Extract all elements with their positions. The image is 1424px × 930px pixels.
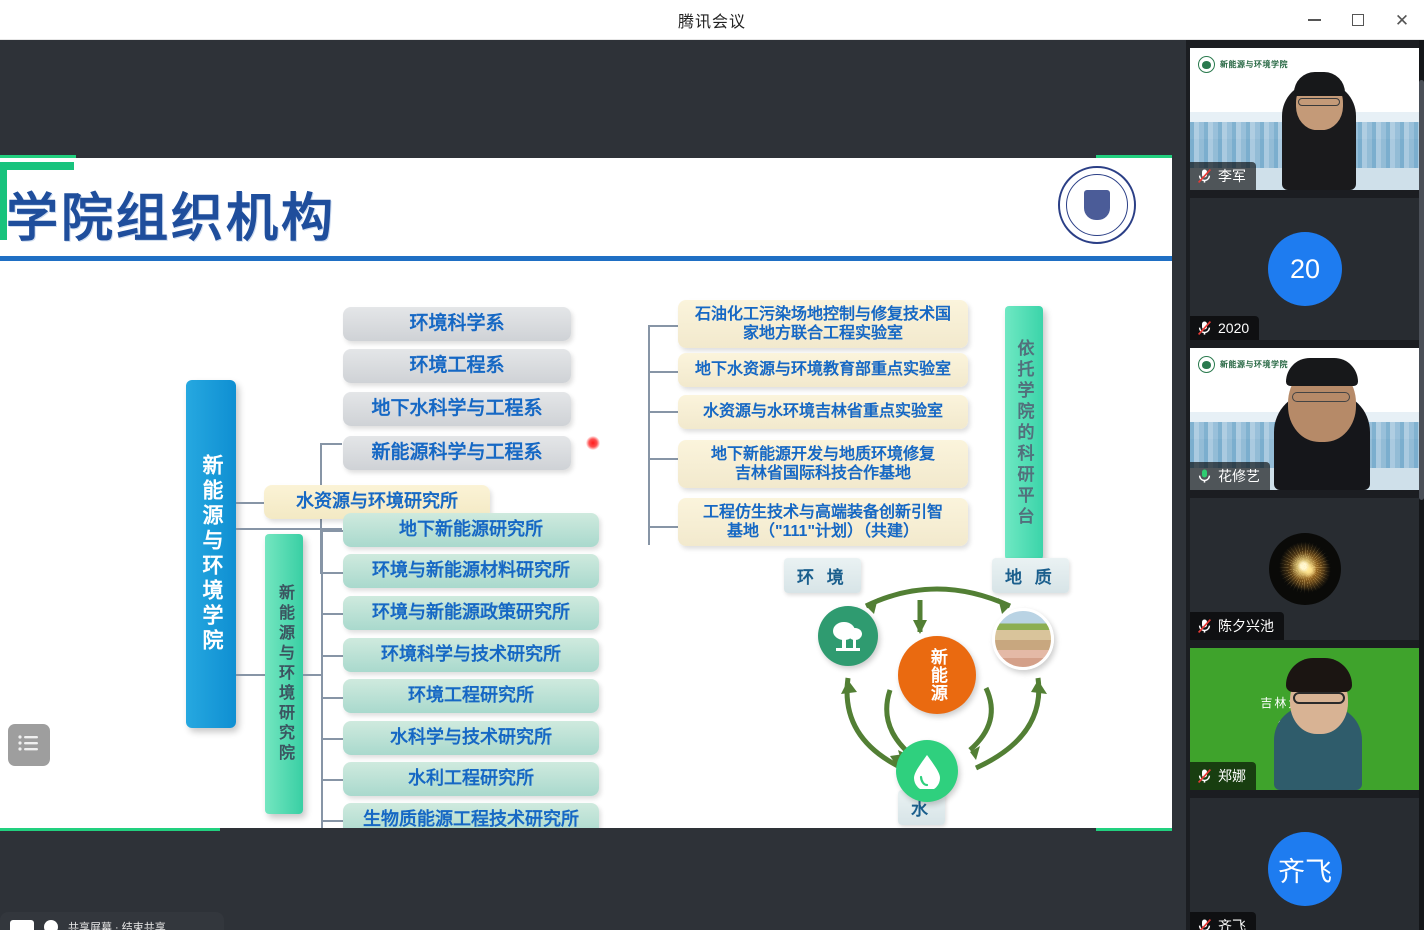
participant-name: 郑娜 (1218, 766, 1246, 786)
energy-ecosystem-diagram: 环 境 地 质 水 (770, 558, 1110, 828)
firework-avatar-image (1270, 534, 1340, 604)
close-button[interactable]: ✕ (1380, 0, 1424, 40)
platform-line: 地下新能源开发与地质环境修复 (711, 445, 935, 464)
mic-muted-icon (1197, 320, 1212, 336)
platform-line: 工程仿生技术与高端装备创新引智 (703, 503, 943, 522)
toolbar-label: 共享屏幕 · 结束共享 (68, 919, 166, 930)
college-logo-icon: 新能源与环境学院 (1198, 56, 1288, 73)
participant-name: 李军 (1218, 166, 1246, 186)
department-card: 新能源科学与工程系 (343, 436, 571, 470)
research-academy-node: 新能源与环境研究院 (265, 534, 303, 814)
participant-nameplate: 陈夕兴池 (1190, 612, 1284, 640)
platform-card: 石油化工污染场地控制与修复技术国 家地方联合工程实验室 (678, 300, 968, 348)
title-bar: 腾讯会议 ✕ (0, 0, 1424, 40)
platform-card: 地下水资源与环境教育部重点实验室 (678, 353, 968, 387)
window-controls: ✕ (1292, 0, 1424, 40)
meeting-toolbar[interactable]: 共享屏幕 · 结束共享 (0, 912, 224, 930)
mic-muted-icon (1197, 168, 1212, 184)
scrollbar-thumb[interactable] (1419, 80, 1424, 500)
app-title: 腾讯会议 (678, 8, 746, 32)
participant-name: 花修艺 (1218, 466, 1260, 486)
institute-card: 环境工程研究所 (343, 679, 599, 713)
slide-title: 学院组织机构 (6, 176, 336, 251)
participant-name: 2020 (1218, 320, 1249, 336)
participant-rail[interactable]: 新能源与环境学院 李军 20 (1186, 40, 1424, 930)
slide-header: 学院组织机构 (0, 158, 1172, 268)
tencent-meeting-window: 腾讯会议 ✕ 学院组织机构 (0, 0, 1424, 930)
participant-tile[interactable]: 陈夕兴池 (1190, 498, 1420, 640)
institute-card: 水利工程研究所 (343, 762, 599, 796)
participant-name: 齐飞 (1218, 916, 1246, 930)
avatar: 20 (1268, 232, 1342, 306)
eco-center-new-energy: 新能源 (898, 636, 976, 714)
platform-card: 地下新能源开发与地质环境修复 吉林省国际科技合作基地 (678, 440, 968, 488)
avatar: 齐飞 (1268, 832, 1342, 906)
mic-muted-icon (1197, 918, 1212, 930)
participant-tile[interactable]: 新能源与环境学院 李军 (1190, 48, 1420, 190)
avatar (1269, 533, 1341, 605)
platform-card: 水资源与水环境吉林省重点实验室 (678, 395, 968, 429)
title-divider (0, 256, 1172, 261)
org-root-node: 新能源与环境学院 (186, 380, 236, 728)
platform-line: 吉林省国际科技合作基地 (735, 464, 911, 483)
geology-icon (992, 608, 1054, 670)
participant-nameplate: 2020 (1190, 316, 1259, 340)
meeting-body: 学院组织机构 新能源与环境学院 环境科学系 环境工程系 地 (0, 40, 1424, 930)
audio-icon[interactable] (44, 920, 58, 930)
annotation-list-button[interactable] (8, 724, 50, 766)
mic-muted-icon (1197, 768, 1212, 784)
list-icon (18, 734, 40, 757)
institute-card: 环境与新能源政策研究所 (343, 596, 599, 630)
mic-muted-icon (1197, 618, 1212, 634)
institute-card: 地下新能源研究所 (343, 513, 599, 547)
presentation-slide: 学院组织机构 新能源与环境学院 环境科学系 环境工程系 地 (0, 158, 1172, 828)
department-card: 环境工程系 (343, 349, 571, 383)
camera-icon[interactable] (10, 920, 34, 930)
participant-nameplate: 花修艺 (1190, 462, 1270, 490)
institute-card: 环境科学与技术研究所 (343, 638, 599, 672)
maximize-button[interactable] (1336, 0, 1380, 40)
title-accent-bar (0, 162, 74, 170)
institute-card: 水科学与技术研究所 (343, 721, 599, 755)
participant-tile[interactable]: 20 2020 (1190, 198, 1420, 340)
jilin-university-logo-icon (1058, 166, 1136, 244)
participant-nameplate: 齐飞 (1190, 912, 1256, 930)
participant-tile-active-speaker[interactable]: 新能源与环境学院 花修艺 (1190, 348, 1420, 490)
department-card: 环境科学系 (343, 307, 571, 341)
college-logo-icon: 新能源与环境学院 (1198, 356, 1288, 373)
platform-line: 石油化工污染场地控制与修复技术国 (695, 305, 951, 324)
platform-line: 家地方联合工程实验室 (743, 324, 903, 343)
participant-name: 陈夕兴池 (1218, 616, 1274, 636)
water-drop-icon (896, 740, 958, 802)
participant-tile[interactable]: 吉林大学 学院 2022 营 郑娜 (1190, 648, 1420, 790)
department-card: 地下水科学与工程系 (343, 392, 571, 426)
platform-group-label: 依托学院的科研平台 (1005, 306, 1043, 560)
tree-icon (818, 606, 878, 666)
platform-card: 工程仿生技术与高端装备创新引智 基地（"111"计划）（共建） (678, 498, 968, 546)
participant-nameplate: 郑娜 (1190, 762, 1256, 790)
participant-tile[interactable]: 齐飞 齐飞 (1190, 798, 1420, 930)
participant-nameplate: 李军 (1190, 162, 1256, 190)
platform-line: 基地（"111"计划）（共建） (727, 522, 919, 541)
participant-rail-scrollbar[interactable] (1419, 40, 1424, 930)
laser-pointer-dot (586, 436, 600, 450)
mic-active-icon (1197, 468, 1212, 484)
institute-card: 生物质能源工程技术研究所 (343, 803, 599, 828)
institute-card: 环境与新能源材料研究所 (343, 554, 599, 588)
shared-screen-stage: 学院组织机构 新能源与环境学院 环境科学系 环境工程系 地 (0, 40, 1186, 930)
minimize-button[interactable] (1292, 0, 1336, 40)
